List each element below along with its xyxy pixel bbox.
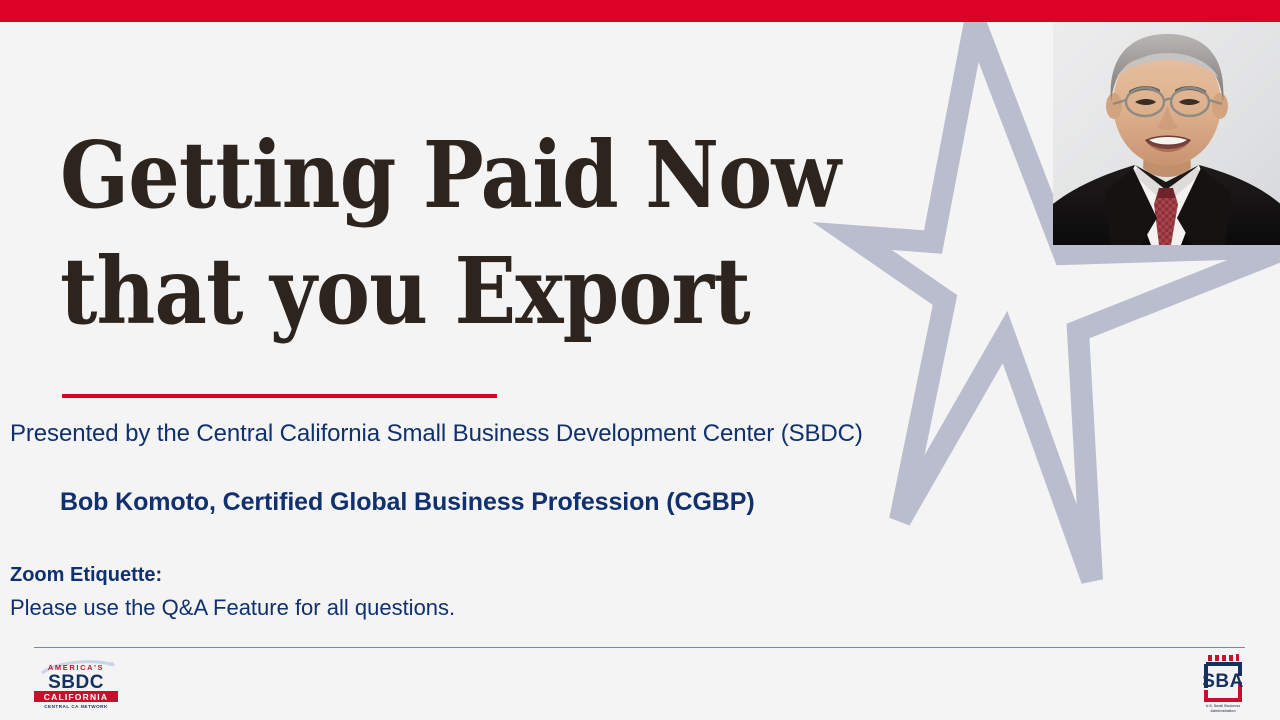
sbdc-logo-state-text: CALIFORNIA (44, 692, 108, 702)
presenter-name-text: Bob Komoto, Certified Global Business Pr… (60, 488, 755, 517)
slide-title: Getting Paid Now that you Export (60, 118, 852, 350)
sbdc-logo-top-text: AMERICA'S (48, 663, 104, 672)
sbdc-logo-sub-text: CENTRAL CA NETWORK (44, 704, 108, 709)
presented-by-text: Presented by the Central California Smal… (10, 420, 863, 448)
presenter-headshot (1053, 22, 1280, 245)
sbdc-logo-main-text: SBDC (48, 672, 104, 693)
sba-logo-sub-text: U.S. Small Business (1206, 704, 1241, 708)
sba-logo: SBA U.S. Small Business Administration (1194, 652, 1252, 714)
title-line-1: Getting Paid Now (60, 118, 852, 234)
sba-logo-main-text: SBA (1202, 671, 1244, 692)
title-underline-rule (62, 394, 497, 398)
zoom-etiquette-heading: Zoom Etiquette: (10, 564, 162, 587)
top-red-band (0, 0, 1280, 22)
presentation-slide: Getting Paid Now that you Export Present… (0, 0, 1280, 720)
footer-divider (34, 647, 1245, 648)
zoom-etiquette-body: Please use the Q&A Feature for all quest… (10, 595, 455, 621)
sbdc-logo: AMERICA'S SBDC CALIFORNIA CENTRAL CA NET… (24, 659, 128, 709)
title-line-2: that you Export (60, 234, 852, 350)
svg-text:Administration: Administration (1210, 709, 1235, 713)
